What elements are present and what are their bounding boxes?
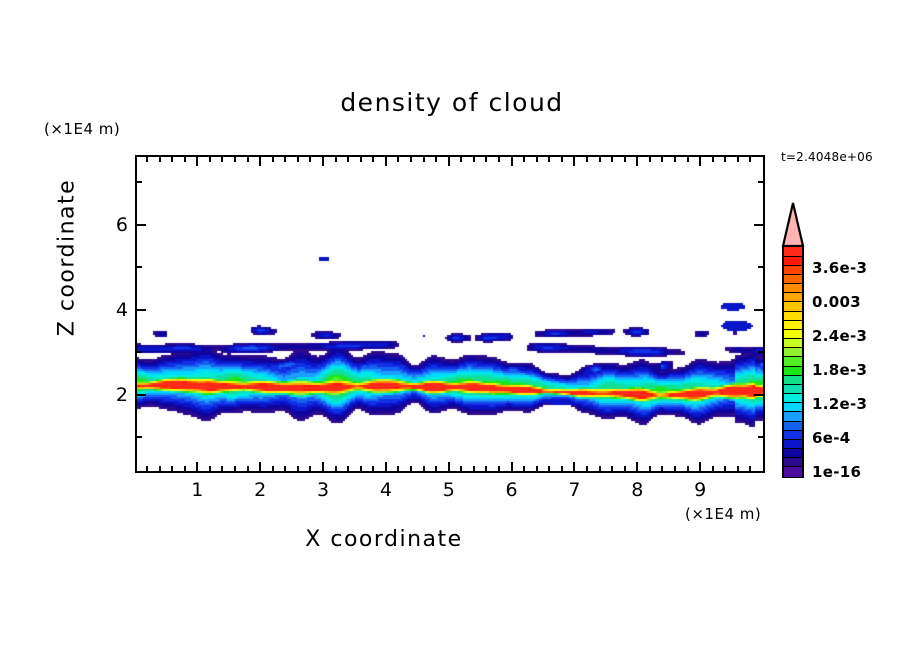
x-tick-major xyxy=(699,157,701,166)
y-tick-minor xyxy=(137,351,142,353)
x-tick-major xyxy=(448,157,450,166)
x-tick-label: 4 xyxy=(371,479,401,501)
colorbar-band-separator xyxy=(784,292,802,293)
x-tick-major xyxy=(385,157,387,166)
colorbar-band-separator xyxy=(784,347,802,348)
x-tick-minor xyxy=(372,157,374,162)
x-tick-minor xyxy=(473,157,475,162)
x-tick-major xyxy=(511,462,513,471)
x-tick-major xyxy=(573,157,575,166)
x-tick-minor xyxy=(234,157,236,162)
x-tick-label: 7 xyxy=(559,479,589,501)
x-tick-label: 8 xyxy=(622,479,652,501)
y-tick-minor xyxy=(758,351,763,353)
x-tick-minor xyxy=(536,157,538,162)
x-tick-minor xyxy=(624,466,626,471)
x-tick-major xyxy=(196,462,198,471)
y-tick-minor xyxy=(137,436,142,438)
x-tick-minor xyxy=(209,466,211,471)
x-tick-minor xyxy=(347,466,349,471)
x-tick-label: 5 xyxy=(434,479,464,501)
y-tick-minor xyxy=(758,266,763,268)
y-tick-minor xyxy=(137,181,142,183)
colorbar-band-separator xyxy=(784,256,802,257)
x-tick-major xyxy=(259,462,261,471)
colorbar-band-separator xyxy=(784,457,802,458)
x-tick-minor xyxy=(749,466,751,471)
x-tick-minor xyxy=(485,466,487,471)
x-tick-minor xyxy=(159,157,161,162)
x-tick-minor xyxy=(498,157,500,162)
x-tick-minor xyxy=(146,466,148,471)
x-tick-major xyxy=(385,462,387,471)
colorbar-band-separator xyxy=(784,393,802,394)
x-tick-label: 9 xyxy=(685,479,715,501)
x-tick-minor xyxy=(360,157,362,162)
colorbar-tick-label: 0.003 xyxy=(812,293,861,311)
colorbar-tick-label: 6e-4 xyxy=(812,429,850,447)
y-tick-label: 2 xyxy=(98,384,128,406)
x-tick-major xyxy=(511,157,513,166)
x-tick-minor xyxy=(297,157,299,162)
x-tick-minor xyxy=(737,157,739,162)
colorbar-legend xyxy=(782,245,804,478)
x-tick-minor xyxy=(284,157,286,162)
colorbar-band-separator xyxy=(784,283,802,284)
x-axis-title: X coordinate xyxy=(0,527,768,552)
x-tick-minor xyxy=(171,157,173,162)
y-tick-minor xyxy=(137,266,142,268)
colorbar-tick-label: 3.6e-3 xyxy=(812,259,867,277)
colorbar-band-separator xyxy=(784,301,802,302)
y-tick-major xyxy=(754,309,763,311)
contour-plot-image xyxy=(137,157,763,471)
x-tick-minor xyxy=(372,466,374,471)
y-axis-units-label: (×1E4 m) xyxy=(44,120,120,138)
colorbar-band-separator xyxy=(784,338,802,339)
x-tick-minor xyxy=(460,466,462,471)
x-tick-minor xyxy=(184,466,186,471)
x-tick-minor xyxy=(234,466,236,471)
x-tick-minor xyxy=(611,466,613,471)
plot-area xyxy=(135,155,765,473)
colorbar-band-separator xyxy=(784,329,802,330)
page-title: density of cloud xyxy=(0,88,904,117)
x-tick-minor xyxy=(661,157,663,162)
x-tick-minor xyxy=(687,157,689,162)
x-tick-minor xyxy=(347,157,349,162)
y-axis-title: Z coordinate xyxy=(55,168,80,348)
colorbar-band-separator xyxy=(784,375,802,376)
x-tick-minor xyxy=(687,466,689,471)
x-tick-minor xyxy=(435,466,437,471)
colorbar-band-separator xyxy=(784,439,802,440)
x-tick-minor xyxy=(209,157,211,162)
y-tick-major xyxy=(137,309,146,311)
colorbar-tick-label: 1.2e-3 xyxy=(812,395,867,413)
x-tick-minor xyxy=(611,157,613,162)
x-tick-minor xyxy=(159,466,161,471)
x-tick-minor xyxy=(335,466,337,471)
x-tick-minor xyxy=(536,466,538,471)
x-tick-minor xyxy=(649,466,651,471)
x-tick-minor xyxy=(548,466,550,471)
x-tick-major xyxy=(636,157,638,166)
x-tick-minor xyxy=(523,466,525,471)
x-tick-major xyxy=(699,462,701,471)
colorbar-band-separator xyxy=(784,366,802,367)
x-tick-minor xyxy=(435,157,437,162)
x-tick-major xyxy=(196,157,198,166)
x-tick-minor xyxy=(674,157,676,162)
colorbar-band-separator xyxy=(784,356,802,357)
x-tick-minor xyxy=(247,157,249,162)
x-tick-minor xyxy=(423,466,425,471)
x-tick-minor xyxy=(423,157,425,162)
x-tick-minor xyxy=(335,157,337,162)
x-tick-label: 2 xyxy=(245,479,275,501)
x-tick-minor xyxy=(460,157,462,162)
x-tick-minor xyxy=(473,466,475,471)
x-tick-minor xyxy=(498,466,500,471)
x-tick-minor xyxy=(523,157,525,162)
x-tick-minor xyxy=(548,157,550,162)
colorbar-band-separator xyxy=(784,466,802,467)
x-tick-minor xyxy=(184,157,186,162)
x-tick-minor xyxy=(360,466,362,471)
x-tick-major xyxy=(322,462,324,471)
x-tick-major xyxy=(448,462,450,471)
x-tick-minor xyxy=(247,466,249,471)
x-tick-minor xyxy=(485,157,487,162)
x-tick-major xyxy=(259,157,261,166)
x-tick-minor xyxy=(171,466,173,471)
x-tick-minor xyxy=(624,157,626,162)
y-tick-major xyxy=(137,224,146,226)
x-axis-units-label: (×1E4 m) xyxy=(685,505,761,523)
y-tick-label: 4 xyxy=(98,299,128,321)
x-tick-minor xyxy=(272,466,274,471)
time-stamp-annotation: t=2.4048e+06 xyxy=(781,150,873,164)
x-tick-minor xyxy=(397,157,399,162)
x-tick-minor xyxy=(737,466,739,471)
x-tick-major xyxy=(322,157,324,166)
colorbar-band-separator xyxy=(784,274,802,275)
y-tick-major xyxy=(754,394,763,396)
x-tick-major xyxy=(573,462,575,471)
x-tick-minor xyxy=(221,157,223,162)
colorbar-band-separator xyxy=(784,430,802,431)
x-tick-minor xyxy=(749,157,751,162)
colorbar-tick-label: 1e-16 xyxy=(812,463,861,481)
colorbar-band-separator xyxy=(784,320,802,321)
colorbar-band-separator xyxy=(784,265,802,266)
x-tick-minor xyxy=(724,157,726,162)
x-tick-minor xyxy=(410,466,412,471)
x-tick-minor xyxy=(586,466,588,471)
colorbar-band-separator xyxy=(784,421,802,422)
x-tick-minor xyxy=(397,466,399,471)
x-tick-minor xyxy=(309,157,311,162)
x-tick-minor xyxy=(599,157,601,162)
y-tick-major xyxy=(754,224,763,226)
figure-canvas: density of cloud (×1E4 m) t=2.4048e+06 1… xyxy=(0,0,904,654)
y-tick-minor xyxy=(758,181,763,183)
x-tick-label: 6 xyxy=(497,479,527,501)
x-tick-minor xyxy=(309,466,311,471)
y-tick-major xyxy=(137,394,146,396)
x-tick-minor xyxy=(410,157,412,162)
x-tick-label: 1 xyxy=(182,479,212,501)
x-tick-minor xyxy=(561,157,563,162)
x-tick-minor xyxy=(297,466,299,471)
x-tick-minor xyxy=(561,466,563,471)
colorbar-band-separator xyxy=(784,411,802,412)
x-tick-minor xyxy=(599,466,601,471)
x-tick-minor xyxy=(146,157,148,162)
x-tick-major xyxy=(636,462,638,471)
x-tick-label: 3 xyxy=(308,479,338,501)
colorbar-tick-label: 1.8e-3 xyxy=(812,361,867,379)
colorbar-band-separator xyxy=(784,402,802,403)
y-tick-minor xyxy=(758,436,763,438)
x-tick-minor xyxy=(649,157,651,162)
x-tick-minor xyxy=(661,466,663,471)
x-tick-minor xyxy=(284,466,286,471)
x-tick-minor xyxy=(712,466,714,471)
x-tick-minor xyxy=(674,466,676,471)
x-tick-minor xyxy=(712,157,714,162)
y-tick-label: 6 xyxy=(98,214,128,236)
colorbar-band xyxy=(784,467,802,477)
colorbar-band-separator xyxy=(784,311,802,312)
colorbar-over-range-arrow xyxy=(781,201,805,247)
x-tick-minor xyxy=(221,466,223,471)
x-tick-minor xyxy=(586,157,588,162)
colorbar-band-separator xyxy=(784,448,802,449)
x-tick-minor xyxy=(724,466,726,471)
colorbar-tick-label: 2.4e-3 xyxy=(812,327,867,345)
colorbar-band-separator xyxy=(784,384,802,385)
x-tick-minor xyxy=(272,157,274,162)
